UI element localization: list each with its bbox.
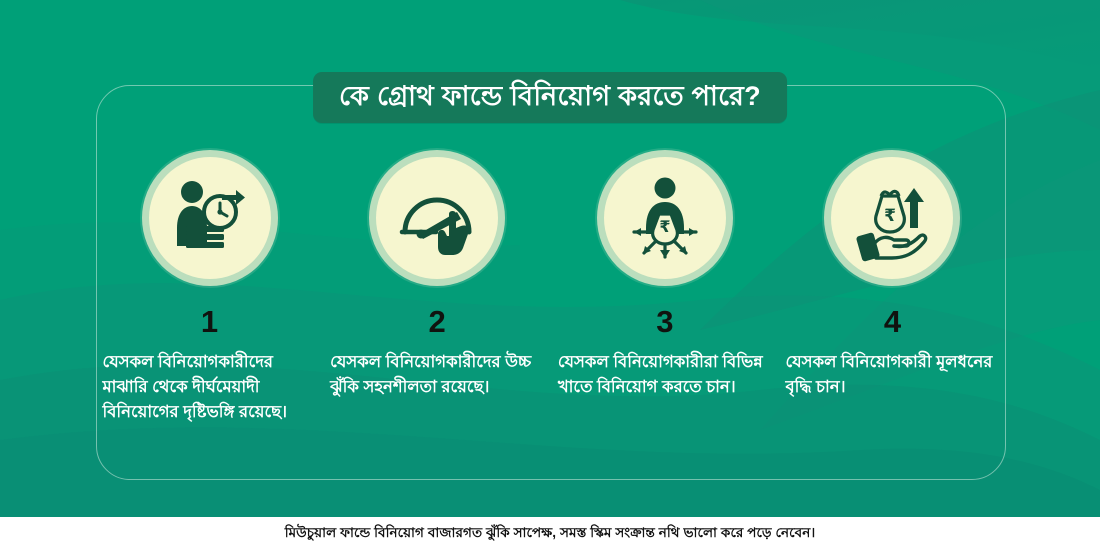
person-money-bag-diversify-arrows-icon: ₹ [619, 172, 711, 264]
icon-badge-4: ₹ [824, 150, 960, 286]
criteria-card-4: ₹ 4 যেসকল বিনিয়োগকারী মূলধনের বৃদ্ধি চা… [779, 150, 1006, 400]
footer-disclaimer-band: মিউচুয়াল ফান্ডে বিনিয়োগ বাজারগত ঝুঁকি … [0, 517, 1100, 550]
investor-criteria-list: 1 যেসকল বিনিয়োগকারীদের মাঝারি থেকে দীর্… [96, 150, 1006, 425]
icon-badge-2 [369, 150, 505, 286]
card-number-2: 2 [429, 306, 446, 337]
person-clock-coins-icon [164, 172, 256, 264]
card-number-4: 4 [884, 306, 901, 337]
card-number-1: 1 [201, 306, 218, 337]
footer-disclaimer-text: মিউচুয়াল ফান্ডে বিনিয়োগ বাজারগত ঝুঁকি … [285, 522, 816, 545]
svg-text:₹: ₹ [659, 217, 670, 236]
card-number-3: 3 [656, 306, 673, 337]
card-text-3: যেসকল বিনিয়োগকারীরা বিভিন্ন খাতে বিনিয়… [558, 350, 772, 400]
svg-text:₹: ₹ [885, 206, 897, 226]
card-text-1: যেসকল বিনিয়োগকারীদের মাঝারি থেকে দীর্ঘম… [103, 350, 317, 425]
gauge-hand-risk-meter-icon [391, 172, 483, 264]
criteria-card-3: ₹ 3 যেসকল বিনিয়োগকারীরা বিভিন্ন খ [551, 150, 778, 400]
criteria-card-2: 2 যেসকল বিনিয়োগকারীদের উচ্চ ঝুঁকি সহনশী… [324, 150, 551, 400]
icon-badge-3: ₹ [597, 150, 733, 286]
card-text-2: যেসকল বিনিয়োগকারীদের উচ্চ ঝুঁকি সহনশীলত… [330, 350, 544, 400]
icon-badge-1 [142, 150, 278, 286]
card-text-4: যেসকল বিনিয়োগকারী মূলধনের বৃদ্ধি চান। [785, 350, 999, 400]
criteria-card-1: 1 যেসকল বিনিয়োগকারীদের মাঝারি থেকে দীর্… [96, 150, 323, 425]
page-title: কে গ্রোথ ফান্ডে বিনিয়োগ করতে পারে? [313, 72, 787, 123]
hand-money-bag-growth-arrow-icon: ₹ [846, 172, 938, 264]
